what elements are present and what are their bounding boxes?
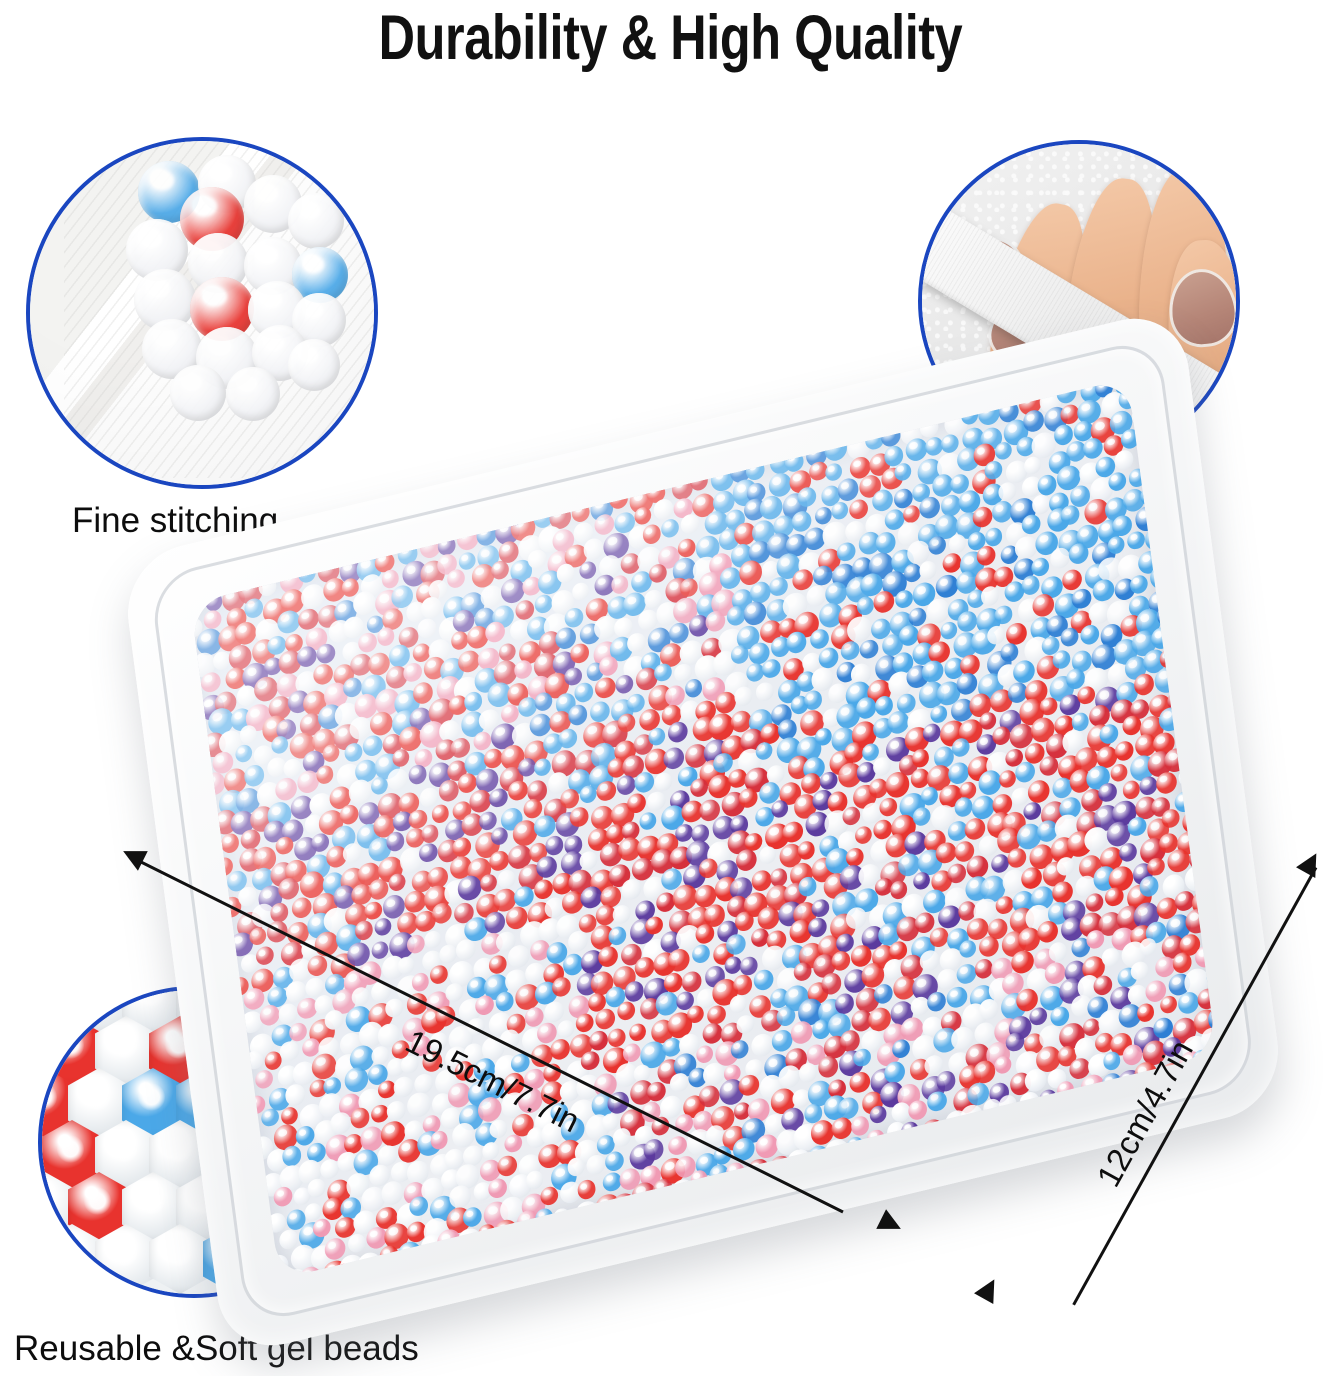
gel-pellet (797, 840, 816, 861)
gel-pellet (557, 1018, 576, 1039)
dimension-length-arrowhead-start (118, 841, 148, 871)
gel-pellet (284, 1082, 307, 1107)
gel-pellet (1000, 642, 1019, 664)
gel-pellet (1121, 779, 1141, 801)
gel-pellet (386, 1100, 406, 1123)
gel-pellet (755, 681, 774, 703)
gel-pellet (497, 868, 517, 890)
gel-pellet (544, 834, 564, 856)
gel-pellet (220, 832, 240, 855)
gel-pellet (203, 608, 223, 630)
gel-pellet (638, 810, 657, 832)
dimension-width-arrowhead-start (1296, 848, 1326, 878)
gel-pellet (280, 1105, 299, 1126)
gel-pellet (569, 806, 589, 829)
gel-pellet (384, 997, 403, 1019)
gel-bead-cluster (30, 141, 374, 485)
gel-pellet (612, 1126, 631, 1148)
gel-pellet (869, 1104, 888, 1125)
gel-pellet (1127, 530, 1146, 552)
gel-pellet (817, 645, 840, 670)
gel-pellet (850, 1114, 871, 1137)
gel-pellet (628, 1021, 648, 1043)
gel-pellet (662, 745, 685, 771)
gel-pellet (848, 497, 870, 521)
gel-pellet (660, 517, 680, 539)
gel-pellet (1060, 626, 1079, 648)
gel-pellet (607, 1027, 627, 1049)
gel-pellet (290, 896, 312, 921)
gel-pellet (667, 1134, 688, 1157)
gel-pellet (730, 644, 750, 666)
gel-bead (288, 193, 344, 249)
gel-pellet (994, 604, 1013, 625)
gel-pellet (1114, 739, 1135, 763)
dimension-width-arrowhead-end (974, 1274, 1004, 1304)
gel-pellet (859, 638, 879, 661)
gel-pellet (431, 803, 450, 825)
gel-pellet (684, 677, 703, 699)
gel-pellet (984, 526, 1003, 547)
dimension-length-arrowhead-end (876, 1209, 906, 1239)
callout-circle-fine-stitching (26, 137, 378, 489)
gel-pellet (254, 1068, 274, 1090)
gel-pellet (681, 970, 703, 994)
gel-pellet (911, 748, 930, 769)
gel-pellet (1146, 856, 1165, 877)
gel-pellet (939, 432, 960, 455)
gel-pellet (463, 690, 483, 712)
callout-label-reusable-gel-beads: Reusable &Soft gel beads (14, 1328, 419, 1369)
gel-pellet (373, 917, 392, 938)
gel-pellet (1026, 777, 1051, 805)
product-infographic: Durability & High Quality Fine stitching… (0, 0, 1341, 1376)
gel-pellet (261, 1107, 280, 1128)
gel-pellet (423, 929, 443, 951)
gel-bead (226, 367, 280, 421)
gel-bead (170, 365, 226, 421)
gel-pellet (429, 964, 448, 985)
gel-pellet (344, 742, 363, 764)
gel-pellet (576, 1178, 597, 1201)
gel-pellet (411, 972, 430, 993)
gel-bead (288, 339, 340, 391)
gel-pellet (811, 897, 830, 919)
page-title: Durability & High Quality (134, 2, 1207, 74)
gel-pellet (824, 461, 843, 482)
gel-pellet (588, 699, 610, 724)
